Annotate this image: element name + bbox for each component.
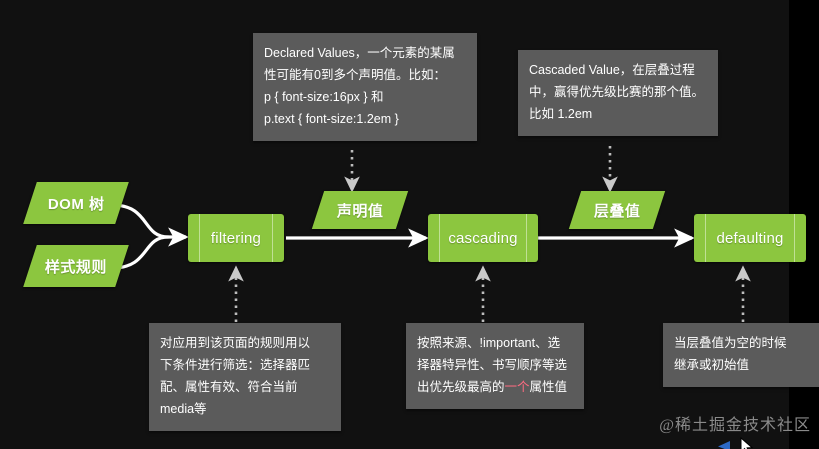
callout-line: 择器特异性、书写顺序等选	[417, 354, 573, 376]
flow-node-dom-tree-label: DOM 树	[48, 193, 105, 214]
callout-line: 比如 1.2em	[529, 103, 707, 125]
callout-line: 下条件进行筛选：选择器匹	[160, 354, 330, 376]
screenshot-stage: DOM 树 样式规则 filtering cascading defaultin…	[0, 0, 819, 449]
flow-node-cascading[interactable]: cascading	[428, 214, 538, 262]
mouse-cursor-icon	[740, 437, 754, 449]
flow-node-style-rules-label: 样式规则	[45, 256, 107, 277]
flow-node-filtering-label: filtering	[211, 230, 261, 247]
callout-line: 当层叠值为空的时候	[674, 332, 808, 354]
callout-line: 中，赢得优先级比赛的那个值。	[529, 81, 707, 103]
callout-line: 继承或初始值	[674, 354, 808, 376]
callout-line: p.text { font-size:1.2em }	[264, 108, 466, 130]
callout-line: 对应用到该页面的规则用以	[160, 332, 330, 354]
flow-node-declared-value-label: 声明值	[337, 200, 384, 221]
callout-text-post: 属性值	[530, 380, 568, 394]
callout-line: 按照来源、!important、选	[417, 332, 573, 354]
callout-line: media等	[160, 398, 330, 420]
callout-declared-values-note: Declared Values，一个元素的某属 性可能有0到多个声明值。比如： …	[253, 33, 477, 141]
flow-node-declared-value[interactable]: 声明值	[312, 191, 408, 229]
callout-text-highlight: 一个	[505, 380, 530, 394]
callout-defaulting-note: 当层叠值为空的时候 继承或初始值	[663, 323, 819, 387]
callout-line: Declared Values，一个元素的某属	[264, 42, 466, 64]
callout-line: 配、属性有效、符合当前	[160, 376, 330, 398]
callout-line-highlighted: 出优先级最高的一个属性值	[417, 376, 573, 398]
flow-node-defaulting[interactable]: defaulting	[694, 214, 806, 262]
flow-node-cascaded-value-label: 层叠值	[594, 200, 641, 221]
callout-filtering-note: 对应用到该页面的规则用以 下条件进行筛选：选择器匹 配、属性有效、符合当前 me…	[149, 323, 341, 431]
flow-node-filtering[interactable]: filtering	[188, 214, 284, 262]
callout-cascaded-value-note: Cascaded Value，在层叠过程 中，赢得优先级比赛的那个值。 比如 1…	[518, 50, 718, 136]
callout-line: p { font-size:16px } 和	[264, 86, 466, 108]
flow-node-style-rules[interactable]: 样式规则	[23, 245, 129, 287]
callout-cascading-note: 按照来源、!important、选 择器特异性、书写顺序等选 出优先级最高的一个…	[406, 323, 584, 409]
flow-node-cascading-label: cascading	[448, 230, 517, 247]
watermark: @稀土掘金技术社区	[659, 411, 811, 435]
flow-node-dom-tree[interactable]: DOM 树	[23, 182, 129, 224]
flow-node-defaulting-label: defaulting	[716, 230, 783, 247]
callout-line: 性可能有0到多个声明值。比如：	[264, 64, 466, 86]
flow-node-cascaded-value[interactable]: 层叠值	[569, 191, 665, 229]
callout-line: Cascaded Value，在层叠过程	[529, 59, 707, 81]
callout-text-pre: 出优先级最高的	[417, 380, 505, 394]
